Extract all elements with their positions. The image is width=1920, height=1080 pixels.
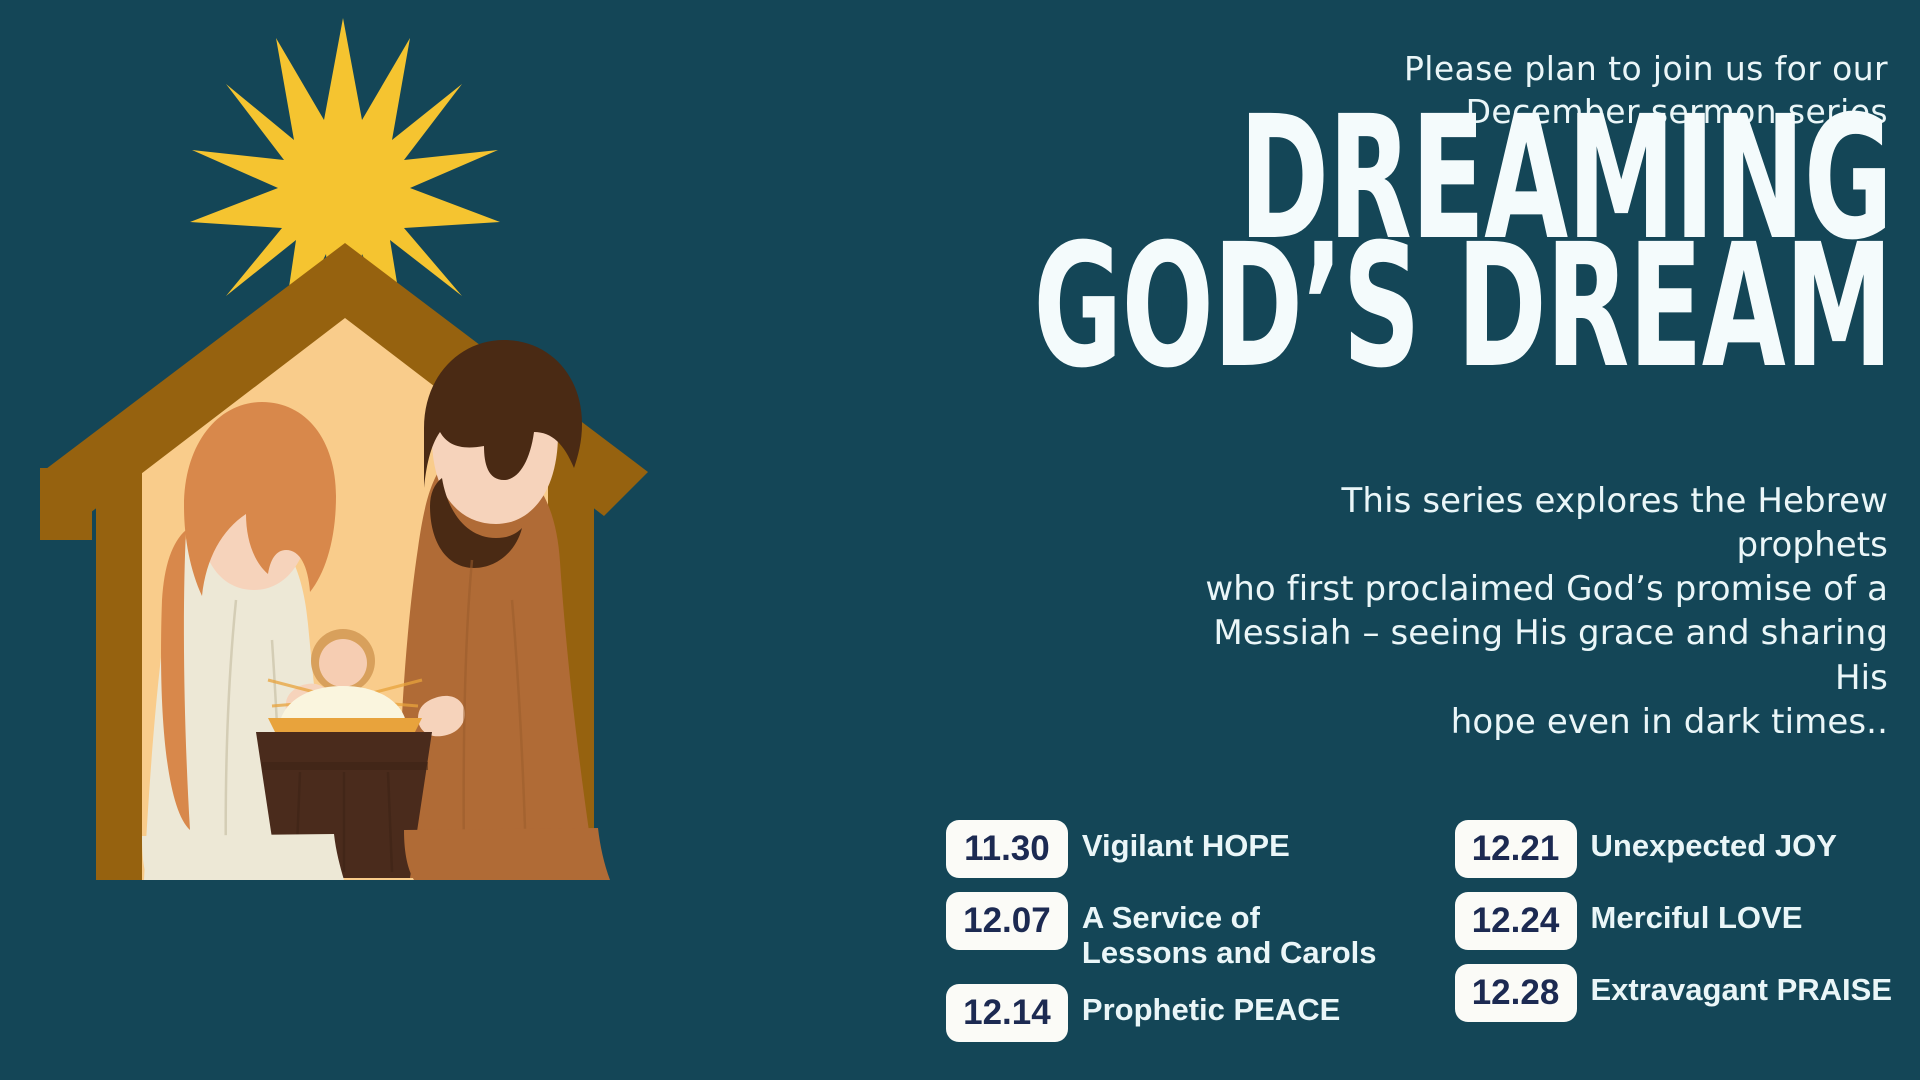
colon-dots-icon	[1163, 269, 1172, 283]
date-badge: 12.28	[1455, 964, 1577, 1022]
sermon-title: Unexpected JOY	[1591, 820, 1837, 863]
title-line-2-pre: G	[1033, 209, 1121, 407]
sermon-title: Merciful LOVE	[1591, 892, 1803, 935]
stable-post-left	[96, 470, 142, 880]
sermon-title: A Service of Lessons and Carols	[1082, 892, 1377, 970]
joseph-robe-hem	[404, 828, 610, 880]
schedule-item: 12.07 A Service of Lessons and Carols	[946, 892, 1377, 970]
schedule-item: 12.28 Extravagant PRAISE	[1455, 964, 1893, 1022]
series-title: DREAMING GOD’S DREAM	[700, 156, 1892, 401]
series-description: This series explores the Hebrew prophets…	[1188, 479, 1888, 744]
content-column: Please plan to join us for our December …	[700, 0, 1920, 1080]
slide-canvas: Please plan to join us for our December …	[0, 0, 1920, 1080]
sermon-title: Prophetic PEACE	[1082, 984, 1340, 1027]
blurb-line-1: This series explores the Hebrew prophets	[1342, 481, 1888, 565]
date-badge: 12.24	[1455, 892, 1577, 950]
schedule-item: 11.30 Vigilant HOPE	[946, 820, 1377, 878]
date-badge: 12.14	[946, 984, 1068, 1042]
blurb-line-3: Messiah – seeing His grace and sharing H…	[1213, 613, 1888, 697]
schedule-column-left: 11.30 Vigilant HOPE 12.07 A Service of L…	[946, 820, 1377, 1042]
schedule-item: 12.21 Unexpected JOY	[1455, 820, 1893, 878]
schedule-item: 12.24 Merciful LOVE	[1455, 892, 1893, 950]
title-line-2-post: D’S DREAM	[1213, 209, 1892, 407]
blurb-line-2: who first proclaimed God’s promise of a	[1205, 569, 1888, 609]
blurb-line-4: hope even in dark times..	[1451, 702, 1888, 742]
date-badge: 12.07	[946, 892, 1068, 950]
title-line-2: GOD’S DREAM	[736, 233, 1892, 383]
title-stylized-o: O	[1122, 233, 1213, 383]
mary-robe-hem	[142, 834, 344, 880]
schedule-item: 12.14 Prophetic PEACE	[946, 984, 1377, 1042]
date-badge: 11.30	[946, 820, 1068, 878]
schedule-column-right: 12.21 Unexpected JOY 12.24 Merciful LOVE…	[1455, 820, 1893, 1022]
date-badge: 12.21	[1455, 820, 1577, 878]
sermon-title: Vigilant HOPE	[1082, 820, 1290, 863]
sermon-schedule: 11.30 Vigilant HOPE 12.07 A Service of L…	[946, 820, 1892, 1042]
nativity-illustration	[0, 0, 700, 1080]
sermon-title: Extravagant PRAISE	[1591, 964, 1893, 1007]
